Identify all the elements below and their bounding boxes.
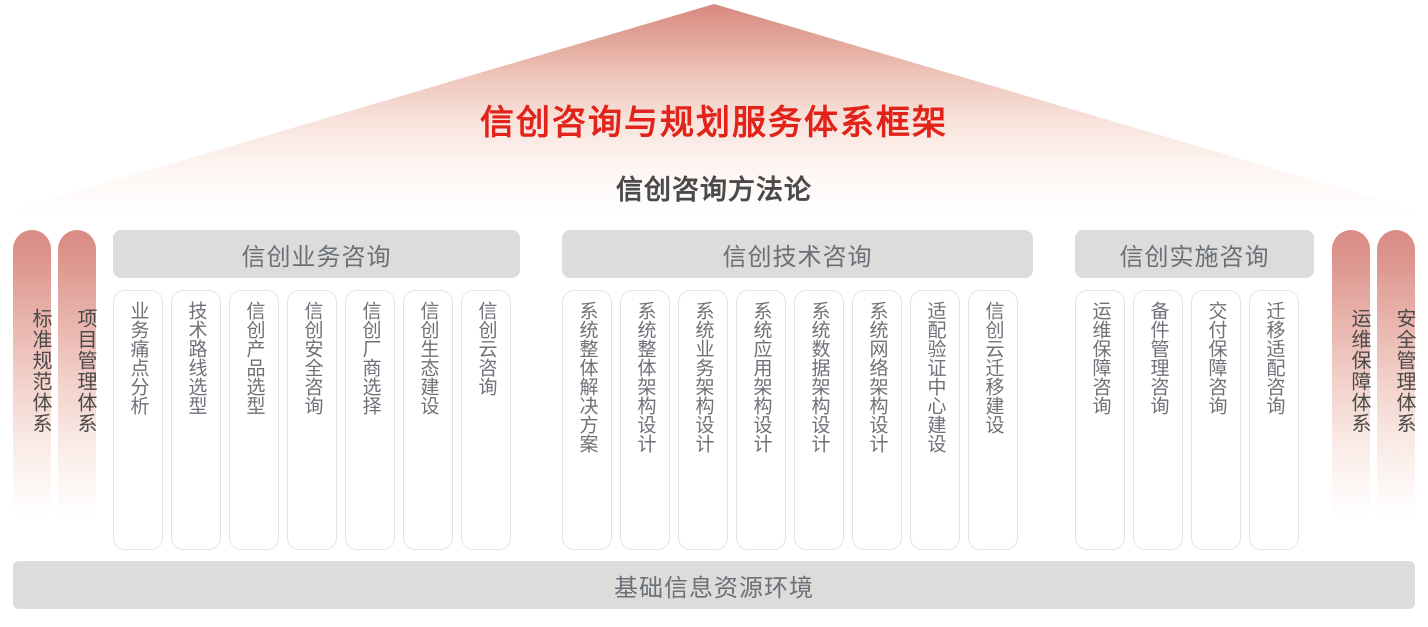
group-header[interactable]: 信创业务咨询 (113, 230, 520, 278)
list-item[interactable]: 交付保障咨询 (1191, 290, 1241, 550)
foundation-bar: 基础信息资源环境 (13, 561, 1415, 609)
item-label: 适配验证中心建设 (923, 301, 948, 539)
item-label: 业务痛点分析 (126, 301, 151, 539)
group-technology-consulting: 信创技术咨询 系统整体解决方案 系统整体架构设计 系统业务架构设计 系统应用架构… (562, 230, 1033, 278)
item-label: 系统整体解决方案 (575, 301, 600, 539)
item-label: 系统业务架构设计 (691, 301, 716, 539)
item-label: 信创厂商选择 (358, 301, 383, 539)
list-item[interactable]: 迁移适配咨询 (1249, 290, 1299, 550)
list-item[interactable]: 信创云迁移建设 (968, 290, 1018, 550)
pillar-ops-support-system[interactable]: 运维保障体系 (1332, 230, 1370, 525)
item-label: 系统数据架构设计 (807, 301, 832, 539)
item-label: 迁移适配咨询 (1262, 301, 1287, 539)
group-item-list: 业务痛点分析 技术路线选型 信创产品选型 信创安全咨询 信创厂商选择 信创生态建… (113, 290, 511, 550)
group-item-list: 系统整体解决方案 系统整体架构设计 系统业务架构设计 系统应用架构设计 系统数据… (562, 290, 1018, 550)
page-subtitle: 信创咨询方法论 (0, 168, 1428, 207)
item-label: 运维保障咨询 (1088, 301, 1113, 539)
list-item[interactable]: 运维保障咨询 (1075, 290, 1125, 550)
page-title: 信创咨询与规划服务体系框架 (0, 95, 1428, 144)
group-item-list: 运维保障咨询 备件管理咨询 交付保障咨询 迁移适配咨询 (1075, 290, 1299, 550)
list-item[interactable]: 信创云咨询 (461, 290, 511, 550)
pillar-label: 项目管理体系 (58, 308, 96, 434)
pillar-label: 标准规范体系 (13, 308, 51, 434)
list-item[interactable]: 信创产品选型 (229, 290, 279, 550)
list-item[interactable]: 信创厂商选择 (345, 290, 395, 550)
list-item[interactable]: 系统数据架构设计 (794, 290, 844, 550)
list-item[interactable]: 业务痛点分析 (113, 290, 163, 550)
pillar-standard-spec-system[interactable]: 标准规范体系 (13, 230, 51, 525)
list-item[interactable]: 适配验证中心建设 (910, 290, 960, 550)
item-label: 系统网络架构设计 (865, 301, 890, 539)
pillar-project-management-system[interactable]: 项目管理体系 (58, 230, 96, 525)
framework-diagram: 信创咨询与规划服务体系框架 信创咨询方法论 标准规范体系 项目管理体系 信创业务… (0, 0, 1428, 627)
list-item[interactable]: 系统业务架构设计 (678, 290, 728, 550)
list-item[interactable]: 系统整体架构设计 (620, 290, 670, 550)
item-label: 技术路线选型 (184, 301, 209, 539)
list-item[interactable]: 系统网络架构设计 (852, 290, 902, 550)
list-item[interactable]: 信创安全咨询 (287, 290, 337, 550)
group-implementation-consulting: 信创实施咨询 运维保障咨询 备件管理咨询 交付保障咨询 迁移适配咨询 (1075, 230, 1314, 278)
pillar-security-management-system[interactable]: 安全管理体系 (1377, 230, 1415, 525)
group-header[interactable]: 信创技术咨询 (562, 230, 1033, 278)
item-label: 系统应用架构设计 (749, 301, 774, 539)
pillar-label: 运维保障体系 (1332, 308, 1370, 434)
group-header[interactable]: 信创实施咨询 (1075, 230, 1314, 278)
item-label: 信创安全咨询 (300, 301, 325, 539)
pillar-label: 安全管理体系 (1377, 308, 1415, 434)
list-item[interactable]: 备件管理咨询 (1133, 290, 1183, 550)
item-label: 信创云迁移建设 (981, 301, 1006, 539)
item-label: 信创生态建设 (416, 301, 441, 539)
list-item[interactable]: 信创生态建设 (403, 290, 453, 550)
item-label: 备件管理咨询 (1146, 301, 1171, 539)
list-item[interactable]: 技术路线选型 (171, 290, 221, 550)
group-business-consulting: 信创业务咨询 业务痛点分析 技术路线选型 信创产品选型 信创安全咨询 信创厂商选… (113, 230, 520, 278)
item-label: 交付保障咨询 (1204, 301, 1229, 539)
item-label: 信创产品选型 (242, 301, 267, 539)
list-item[interactable]: 系统整体解决方案 (562, 290, 612, 550)
item-label: 信创云咨询 (474, 301, 499, 539)
list-item[interactable]: 系统应用架构设计 (736, 290, 786, 550)
item-label: 系统整体架构设计 (633, 301, 658, 539)
